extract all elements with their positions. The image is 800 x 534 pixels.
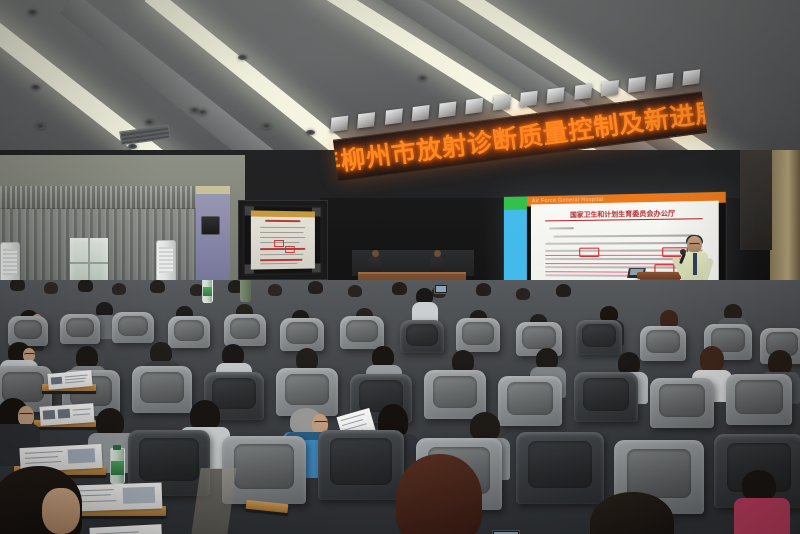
downlight xyxy=(418,76,427,81)
downlight xyxy=(36,124,45,129)
spotlight-icon xyxy=(547,87,565,103)
auditorium-seat[interactable] xyxy=(576,320,622,355)
auditorium-seat[interactable] xyxy=(340,316,384,349)
spotlight-icon xyxy=(628,76,646,92)
auditorium-seat[interactable] xyxy=(60,314,100,344)
auditorium-seat[interactable] xyxy=(224,314,266,346)
presenter-tie xyxy=(693,253,697,275)
spotlight-icon xyxy=(520,91,538,107)
downlight xyxy=(306,130,315,135)
spotlight-icon xyxy=(574,84,592,100)
downlight xyxy=(31,85,40,90)
printed-handout xyxy=(74,482,163,511)
auditorium-seat[interactable] xyxy=(650,378,714,428)
water-bottle xyxy=(110,448,125,484)
tablet-device xyxy=(492,530,520,534)
screen-green-strip xyxy=(504,196,527,210)
printed-handout xyxy=(89,524,162,534)
auditorium-seat[interactable] xyxy=(498,376,562,426)
auditorium-seat[interactable] xyxy=(168,316,210,348)
spotlight-icon xyxy=(466,98,484,114)
right-wall-strip-upper xyxy=(740,150,772,250)
downlight xyxy=(198,110,207,115)
auditorium-seat[interactable] xyxy=(132,366,192,413)
spotlight-icon xyxy=(330,116,348,132)
curtain-valance xyxy=(0,186,200,209)
slide-document-title: 国家卫生和计划生育委员会办公厅 xyxy=(545,206,703,221)
downlight xyxy=(145,120,154,125)
auditorium-seat[interactable] xyxy=(400,320,444,353)
seated-official xyxy=(368,256,382,273)
spotlight-icon xyxy=(493,94,511,110)
auditorium-seat[interactable] xyxy=(112,312,154,343)
auditorium-seat[interactable] xyxy=(280,318,324,351)
auditorium-seat[interactable] xyxy=(516,432,604,504)
seated-official xyxy=(430,256,444,273)
aisle-floor xyxy=(191,468,236,534)
auditorium-seat[interactable] xyxy=(318,430,404,500)
printed-handout xyxy=(39,403,94,426)
secondary-projection-screen[interactable] xyxy=(243,204,323,276)
auditorium-seat[interactable] xyxy=(456,318,500,352)
spotlight-icon xyxy=(601,80,619,96)
auditorium-scene: 2019年柳州市放射诊断质量控制及新进展培训班 Air Force Gener xyxy=(0,0,800,534)
audience-area xyxy=(0,280,800,534)
spotlight-icon xyxy=(412,105,430,121)
auditorium-seat[interactable] xyxy=(424,370,486,419)
auditorium-seat[interactable] xyxy=(574,372,638,422)
spotlight-icon xyxy=(384,108,402,124)
auditorium-seat[interactable] xyxy=(8,316,48,346)
secondary-slide-content xyxy=(251,210,315,269)
auditorium-seat[interactable] xyxy=(726,374,792,425)
downlight xyxy=(238,55,247,60)
smartphone xyxy=(434,284,448,294)
spotlight-icon xyxy=(655,73,673,89)
water-bottle xyxy=(202,280,213,303)
presenter-head xyxy=(687,236,702,253)
downlight xyxy=(128,144,137,149)
spotlight-icon xyxy=(439,101,457,117)
spotlight-icon xyxy=(357,112,375,128)
thermos-flask xyxy=(240,280,251,302)
downlight xyxy=(262,124,271,129)
wall-speaker-icon xyxy=(201,216,220,235)
auditorium-seat[interactable] xyxy=(640,326,686,361)
downlight xyxy=(28,10,37,15)
spotlight-icon xyxy=(682,69,700,85)
